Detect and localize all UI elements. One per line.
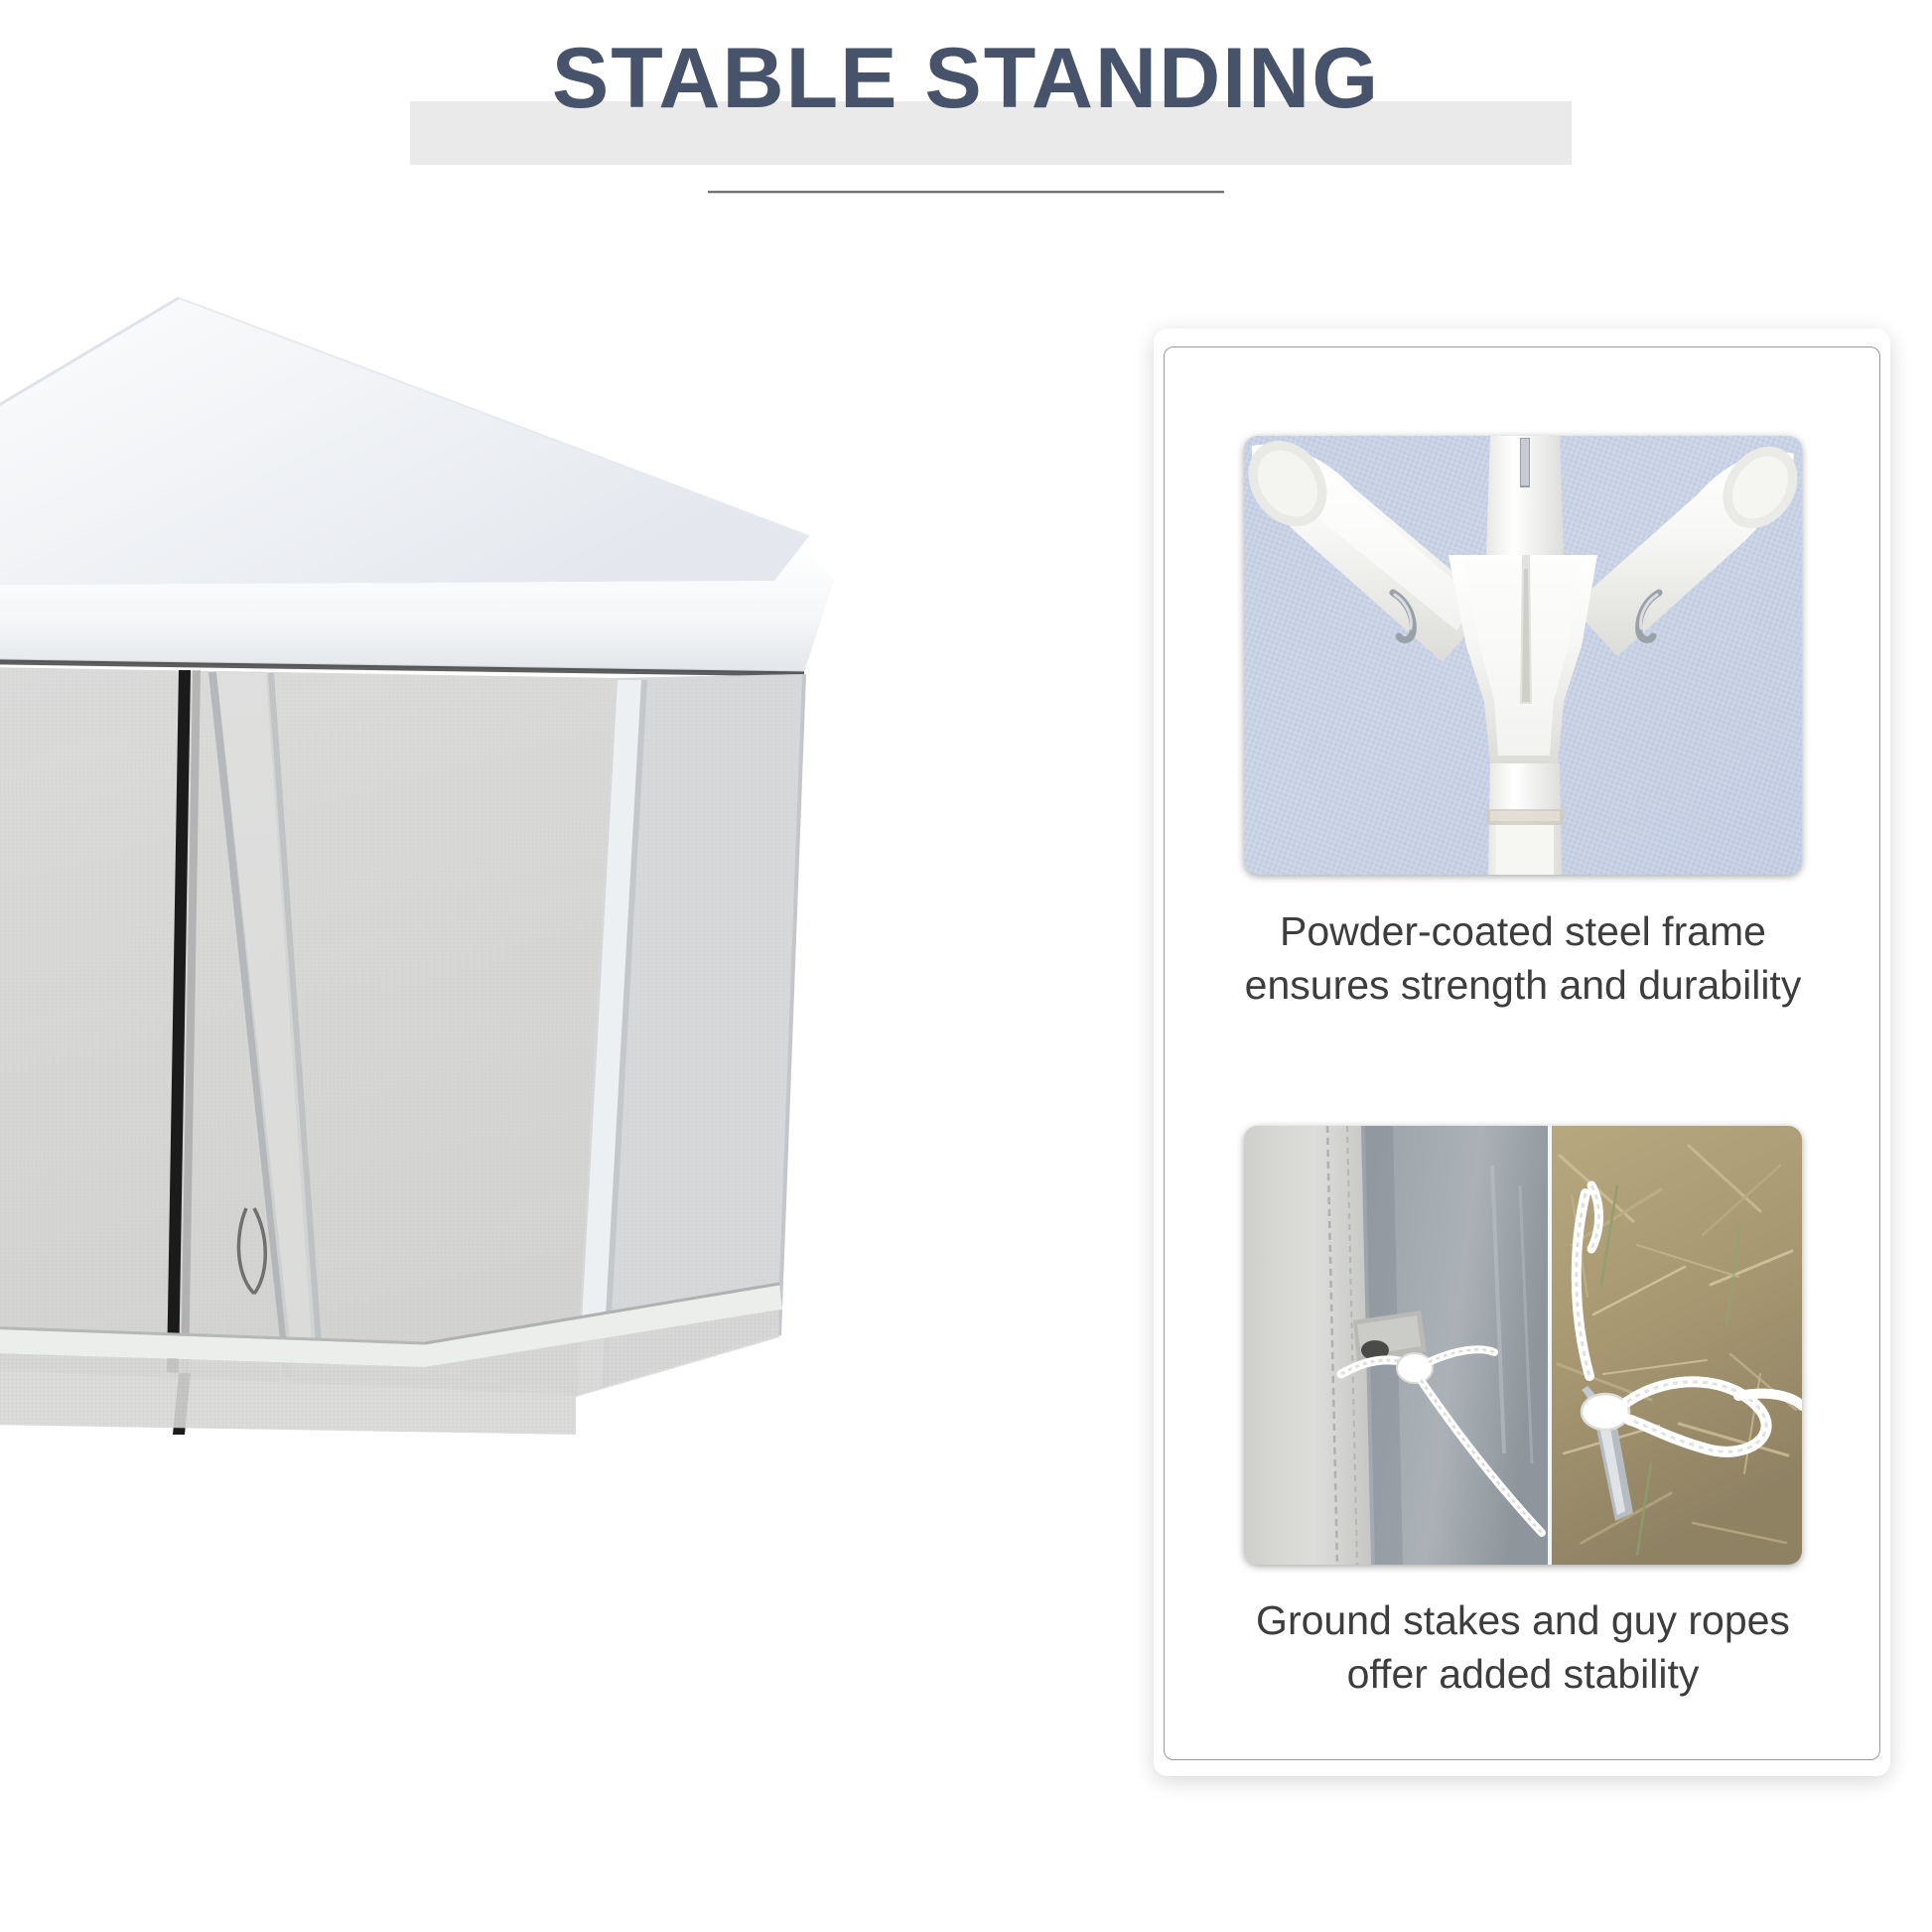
title-divider-rule bbox=[708, 191, 1224, 194]
feature-caption-steel-frame: Powder-coated steel frame ensures streng… bbox=[1182, 904, 1863, 1012]
feature-block-stakes-ropes: Ground stakes and guy ropes offer added … bbox=[1165, 1054, 1881, 1761]
feature-panel: Powder-coated steel frame ensures streng… bbox=[1154, 329, 1890, 1776]
caption-line-1: Powder-coated steel frame bbox=[1182, 904, 1863, 958]
page-title: STABLE STANDING bbox=[0, 30, 1932, 128]
feature-caption-stakes-ropes: Ground stakes and guy ropes offer added … bbox=[1182, 1593, 1863, 1701]
caption-line-2: offer added stability bbox=[1182, 1647, 1863, 1701]
hero-canopy-photo bbox=[0, 283, 1052, 1474]
feature-panel-inner-border: Powder-coated steel frame ensures streng… bbox=[1164, 346, 1880, 1760]
infographic-page: STABLE STANDING bbox=[0, 0, 1932, 1932]
steel-frame-hub-joint-photo bbox=[1244, 436, 1802, 875]
caption-line-1: Ground stakes and guy ropes bbox=[1182, 1593, 1863, 1647]
feature-block-steel-frame: Powder-coated steel frame ensures streng… bbox=[1165, 347, 1881, 1054]
ground-stake-and-guy-rope-photo bbox=[1244, 1126, 1802, 1565]
caption-line-2: ensures strength and durability bbox=[1182, 958, 1863, 1012]
